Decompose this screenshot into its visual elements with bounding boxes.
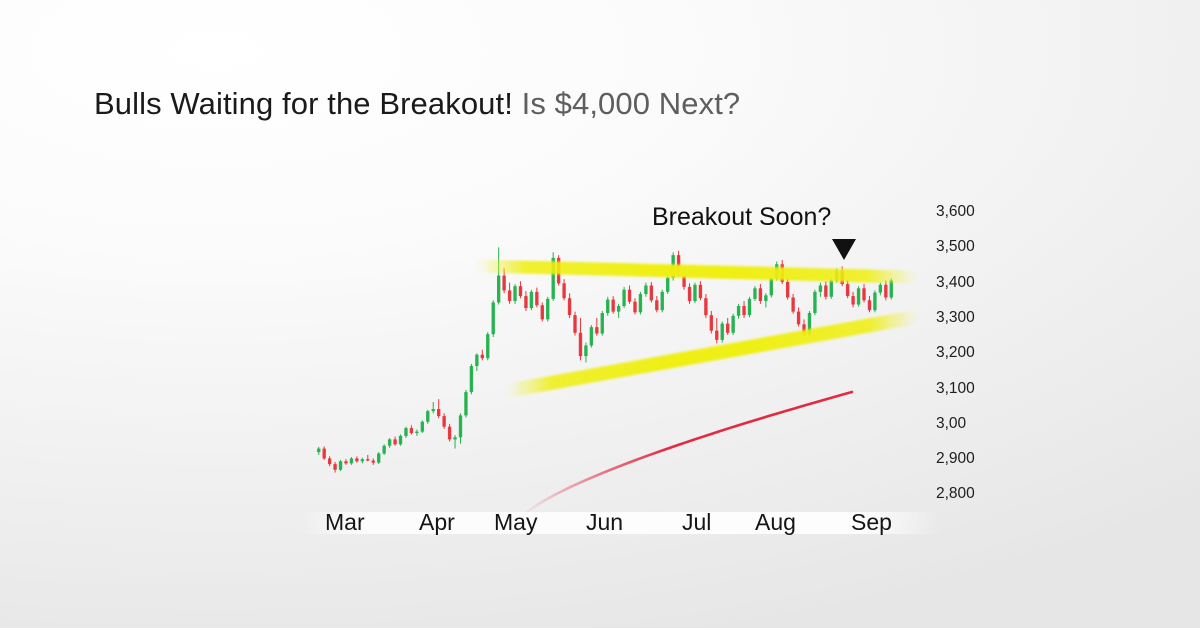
x-axis-tick-label: Jun: [586, 509, 623, 536]
candlestick-series: [317, 247, 893, 472]
y-axis-tick-label: 3,00: [936, 415, 966, 433]
infographic-canvas: Bulls Waiting for the Breakout! Is $4,00…: [0, 0, 1200, 628]
y-axis-tick-label: 3,600: [936, 203, 975, 221]
x-axis-tick-label: Mar: [325, 509, 365, 536]
triangle-down-icon: [832, 239, 856, 260]
y-axis-tick-label: 3,300: [936, 309, 975, 327]
x-axis-tick-label: Aug: [755, 509, 796, 536]
x-axis-tick-label: Apr: [419, 509, 455, 536]
y-axis-tick-label: 3,500: [936, 238, 975, 256]
y-axis-tick-label: 2,900: [936, 450, 975, 468]
y-axis-tick-label: 2,800: [936, 485, 975, 503]
y-axis-tick-label: 3,400: [936, 274, 975, 292]
y-axis-tick-label: 3,100: [936, 380, 975, 398]
y-axis-tick-label: 3,200: [936, 344, 975, 362]
x-axis-tick-label: Jul: [682, 509, 711, 536]
moving-average-line: [520, 392, 852, 520]
trendlines-group: [482, 266, 910, 390]
breakout-annotation: Breakout Soon?: [652, 203, 831, 232]
x-axis-tick-label: Sep: [851, 509, 892, 536]
x-axis-tick-label: May: [494, 509, 537, 536]
